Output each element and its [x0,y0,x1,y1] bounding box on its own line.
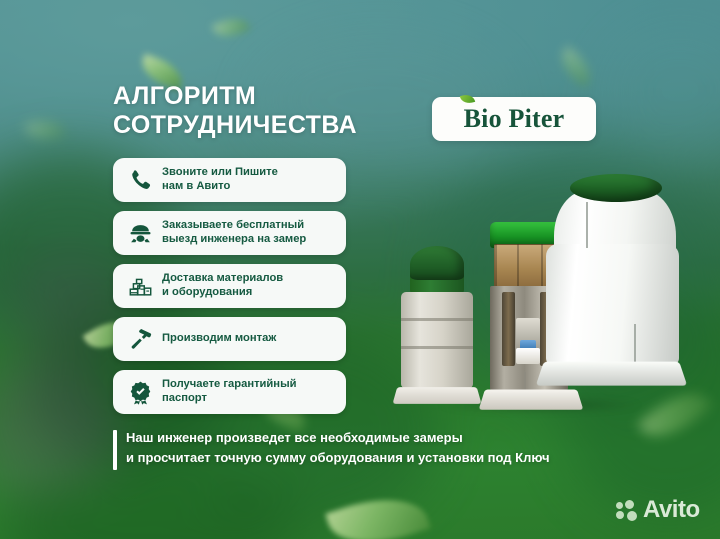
footer-note-text: Наш инженер произведет все необходимые з… [126,428,550,468]
footer-note: Наш инженер произведет все необходимые з… [113,428,550,470]
list-item-label: Производим монтаж [158,332,276,346]
avito-watermark: Avito [616,496,700,524]
list-item-label: Звоните или Пишите нам в Авито [158,166,278,193]
list-item-label: Получаете гарантийный паспорт [158,378,297,405]
promo-banner: АЛГОРИТМ СОТРУДНИЧЕСТВА Bio Piter Звонит… [0,0,720,539]
avito-dots-icon [616,500,638,520]
delivery-boxes-icon [122,270,158,302]
list-item[interactable]: Заказываете бесплатный выезд инженера на… [113,211,346,255]
phone-icon [122,164,158,196]
brand-logo-text: Bio Piter [464,104,565,134]
list-item[interactable]: Звоните или Пишите нам в Авито [113,158,346,202]
steps-list: Звоните или Пишите нам в Авито Заказывае… [113,158,346,414]
list-item-label: Заказываете бесплатный выезд инженера на… [158,219,306,246]
product-image [392,168,692,420]
hammer-icon [122,323,158,355]
page-title: АЛГОРИТМ СОТРУДНИЧЕСТВА [113,82,357,140]
list-item-label: Доставка материалов и оборудования [158,272,283,299]
list-item[interactable]: Получаете гарантийный паспорт [113,370,346,414]
septic-tank-large [542,174,677,406]
accent-bar [113,430,117,470]
septic-tank-small [398,246,476,406]
engineer-helmet-icon [122,217,158,249]
guarantee-badge-icon [122,376,158,408]
list-item[interactable]: Доставка материалов и оборудования [113,264,346,308]
brand-logo: Bio Piter [432,97,596,141]
avito-wordmark: Avito [643,496,700,524]
list-item[interactable]: Производим монтаж [113,317,346,361]
